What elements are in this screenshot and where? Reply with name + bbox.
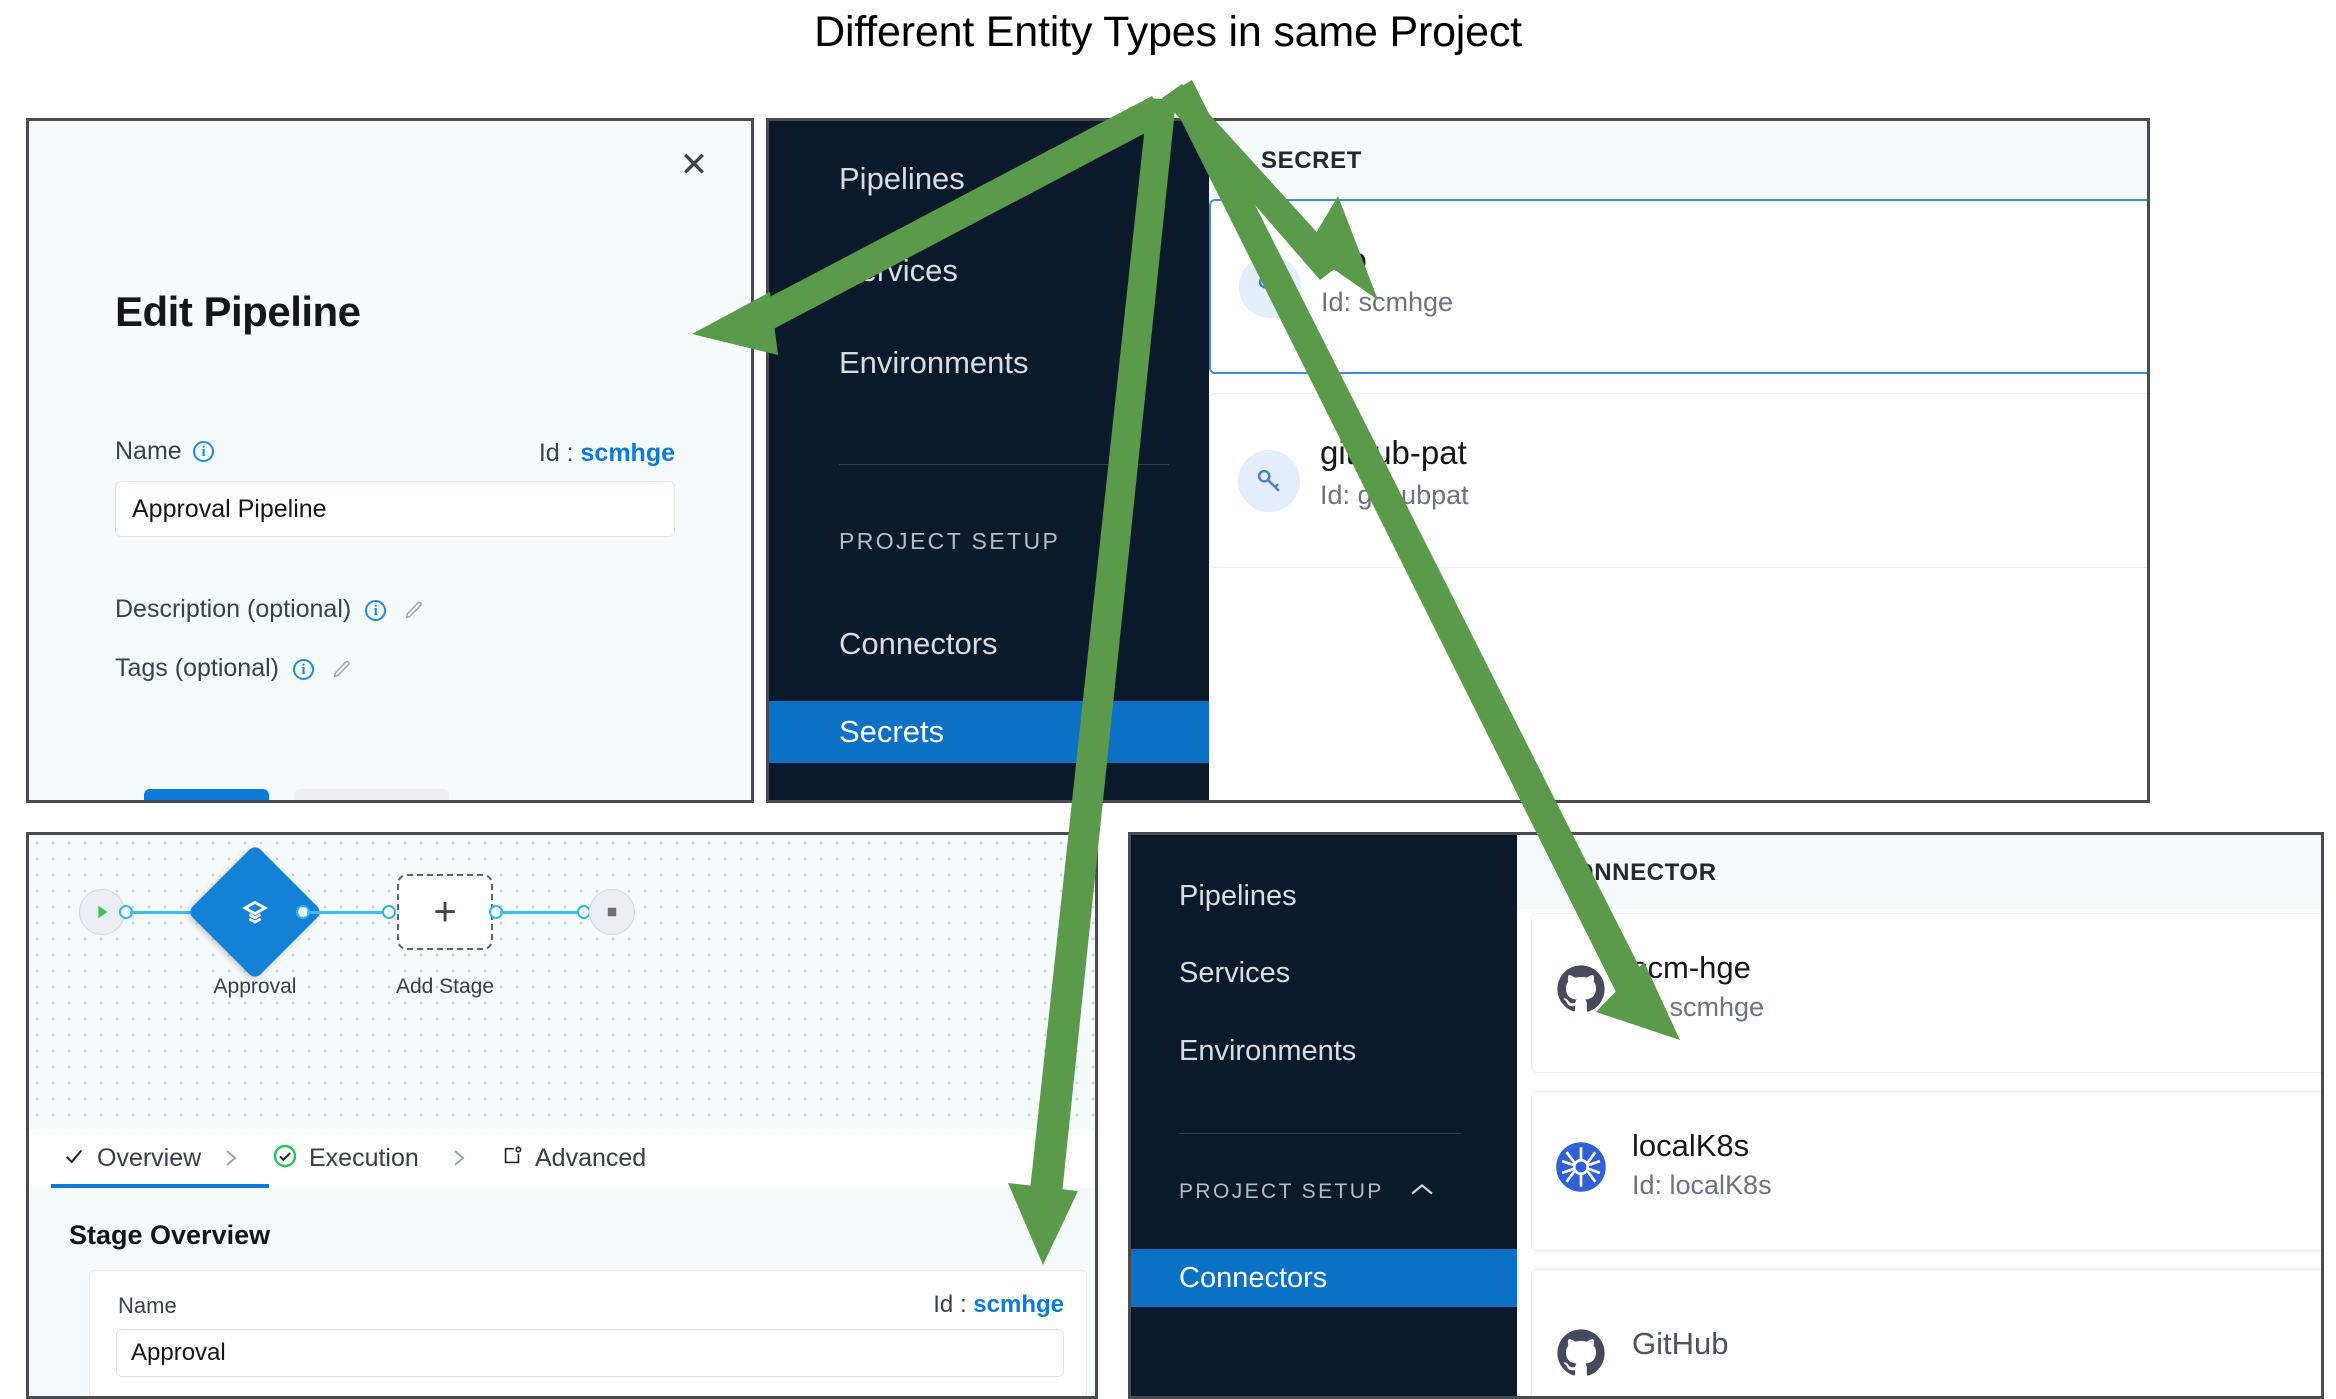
key-icon <box>1239 256 1301 318</box>
tab-label: Execution <box>309 1144 419 1172</box>
sidebar-item-label: Pipelines <box>839 161 965 196</box>
secret-name: github-pat <box>1320 434 1467 472</box>
stage-id: Id : scmhge <box>933 1291 1064 1319</box>
tags-label: Tags (optional) <box>115 654 279 682</box>
github-icon <box>1554 962 1616 1024</box>
kubernetes-icon <box>1554 1140 1616 1202</box>
connector-name: localK8s <box>1632 1128 1749 1164</box>
pencil-icon[interactable] <box>331 658 353 680</box>
pencil-icon[interactable] <box>403 599 425 621</box>
github-icon <box>1554 1326 1616 1388</box>
connectors-list-area: CONNECTOR scm-hge Id: scmhge <box>1517 835 2321 1396</box>
advanced-gear-icon <box>501 1145 523 1174</box>
pipeline-link <box>307 911 389 914</box>
connectors-list-header: CONNECTOR <box>1517 835 2321 909</box>
pipeline-id-value[interactable]: scmhge <box>581 439 675 467</box>
page-title: Different Entity Types in same Project <box>0 8 2336 57</box>
stage-overview-title: Stage Overview <box>69 1220 270 1251</box>
check-icon <box>63 1145 85 1174</box>
sidebar-section-project-setup[interactable]: PROJECT SETUP <box>1131 1180 1517 1204</box>
sidebar-section-label: PROJECT SETUP <box>1179 1180 1384 1203</box>
connector-list-item[interactable]: GitHub <box>1531 1269 2321 1396</box>
cancel-button[interactable]: Cancel <box>294 789 449 803</box>
secret-list-item[interactable]: github-pat Id: githubpat <box>1209 393 2147 568</box>
stage-tabbar: Overview Execution Advanced <box>29 1130 1095 1188</box>
tab-label: Advanced <box>535 1144 646 1172</box>
secret-name: foo <box>1321 241 1367 279</box>
sidebar-item-label: Environments <box>1179 1035 1356 1067</box>
connectors-screen: Pipelines Services Environments PROJECT … <box>1128 832 2324 1399</box>
sidebar-item-label: Services <box>839 253 958 288</box>
secret-id: Id: scmhge <box>1321 287 1453 318</box>
sidebar-item-label: Secrets <box>839 714 944 749</box>
info-icon[interactable]: i <box>365 600 386 621</box>
check-circle-green-icon <box>273 1144 297 1175</box>
sidebar-item-services[interactable]: Services <box>769 253 1209 289</box>
sidebar-item-pipelines[interactable]: Pipelines <box>1131 880 1517 913</box>
info-icon[interactable]: i <box>193 441 214 462</box>
sidebar-section-label: PROJECT SETUP <box>839 528 1060 554</box>
connector-id: Id: localK8s <box>1632 1170 1772 1201</box>
name-label: Name <box>115 437 182 466</box>
secret-id: Id: githubpat <box>1320 480 1469 511</box>
sidebar-item-label: Connectors <box>1179 1262 1327 1294</box>
list-header-label: CONNECTOR <box>1557 859 1717 887</box>
plus-icon: + <box>433 892 456 932</box>
sidebar-item-environments[interactable]: Environments <box>1131 1035 1517 1068</box>
stage-name-input[interactable]: Approval <box>116 1329 1064 1377</box>
chevron-right-icon <box>221 1146 241 1170</box>
sidebar-item-label: Services <box>1179 957 1290 989</box>
project-sidebar: Pipelines Services Environments PROJECT … <box>1131 835 1517 1396</box>
connector-name: GitHub <box>1632 1326 1728 1362</box>
pipeline-end-node[interactable] <box>589 889 635 935</box>
name-input[interactable]: Approval Pipeline <box>115 481 675 537</box>
tab-execution[interactable]: Execution <box>273 1144 419 1175</box>
pipeline-id: Id : scmhge <box>539 439 675 468</box>
connector-id: Id: scmhge <box>1632 992 1764 1023</box>
approval-check-icon <box>207 864 303 960</box>
port-in-addstage[interactable] <box>382 905 396 919</box>
info-icon[interactable]: i <box>293 659 314 680</box>
secrets-list-area: SECRET foo Id: scmhge <box>1209 121 2147 800</box>
project-sidebar: Pipelines Services Environments PROJECT … <box>769 121 1209 800</box>
sidebar-section-project-setup[interactable]: PROJECT SETUP <box>769 528 1209 555</box>
chevron-up-icon[interactable] <box>1409 1180 1437 1202</box>
connector-name: scm-hge <box>1632 950 1751 986</box>
chevron-up-icon[interactable] <box>1103 530 1131 552</box>
modal-title: Edit Pipeline <box>115 288 361 336</box>
sidebar-item-connectors[interactable]: Connectors <box>1131 1249 1517 1307</box>
secrets-list-header: SECRET <box>1209 121 2147 199</box>
sidebar-item-services[interactable]: Services <box>1131 957 1517 990</box>
add-stage-label: Add Stage <box>369 975 521 999</box>
connector-list-item[interactable]: scm-hge Id: scmhge <box>1531 913 2321 1073</box>
key-icon <box>1238 450 1300 512</box>
sidebar-item-environments[interactable]: Environments <box>769 345 1209 381</box>
sidebar-item-pipelines[interactable]: Pipelines <box>769 161 1209 197</box>
pipeline-studio-panel: Approval + Add Stage Overview <box>26 832 1098 1399</box>
edit-pipeline-modal: ✕ Edit Pipeline Name i Id : scmhge Appro… <box>26 118 754 803</box>
description-label: Description (optional) <box>115 595 351 623</box>
list-header-label: SECRET <box>1261 147 1362 175</box>
tab-overview[interactable]: Overview <box>63 1144 201 1174</box>
connector-list-item[interactable]: localK8s Id: localK8s <box>1531 1091 2321 1251</box>
sidebar-divider <box>1179 1133 1461 1134</box>
slide-canvas: Different Entity Types in same Project ✕… <box>0 0 2336 1399</box>
tab-label: Overview <box>97 1144 201 1172</box>
add-stage-button[interactable]: + <box>397 874 493 950</box>
secret-list-item[interactable]: foo Id: scmhge <box>1209 199 2147 374</box>
sidebar-item-label: Connectors <box>839 626 998 661</box>
pipeline-canvas[interactable]: Approval + Add Stage <box>29 835 1095 1130</box>
sidebar-item-secrets[interactable]: Secrets <box>769 701 1209 763</box>
description-field-label: Description (optional) i <box>115 595 425 624</box>
name-field-row: Name i Id : scmhge <box>115 437 675 467</box>
secrets-screen: Pipelines Services Environments PROJECT … <box>766 118 2150 803</box>
stage-id-value[interactable]: scmhge <box>973 1291 1064 1318</box>
stage-overview-body: Stage Overview Name Id : scmhge Approval <box>29 1188 1095 1396</box>
stage-overview-card: Name Id : scmhge Approval <box>89 1270 1087 1399</box>
chevron-right-icon <box>449 1146 469 1170</box>
pipeline-link <box>500 911 584 914</box>
sidebar-divider <box>839 464 1169 465</box>
save-button[interactable]: Save <box>144 789 269 803</box>
sidebar-item-connectors[interactable]: Connectors <box>769 626 1209 662</box>
tags-field-label: Tags (optional) i <box>115 654 353 683</box>
stage-name-label: Name <box>118 1293 177 1319</box>
stage-node-label: Approval <box>157 975 353 999</box>
sidebar-item-label: Pipelines <box>1179 880 1297 912</box>
tab-advanced[interactable]: Advanced <box>501 1144 646 1174</box>
close-icon[interactable]: ✕ <box>675 148 713 186</box>
sidebar-item-label: Environments <box>839 345 1029 380</box>
